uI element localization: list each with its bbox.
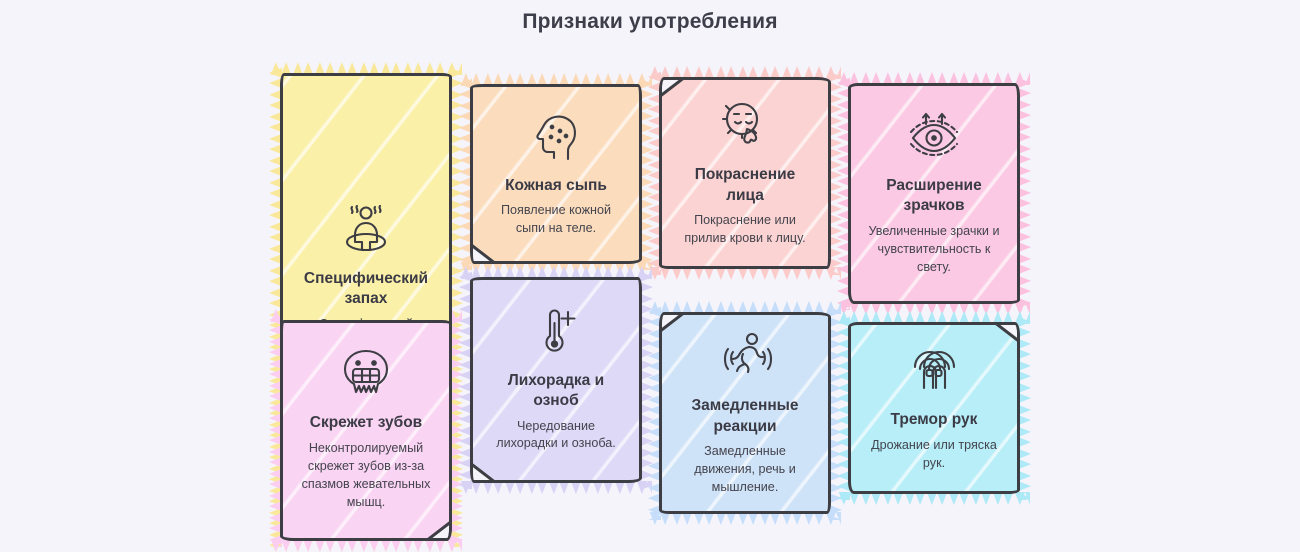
symptom-card-dilated-pupils[interactable]: Расширение зрачковУвеличенные зрачки и ч… xyxy=(848,83,1020,304)
page-fold-corner xyxy=(470,463,496,483)
card-description: Чередование лихорадки и озноба. xyxy=(487,418,625,454)
card-title: Кожная сыпь xyxy=(505,176,607,196)
card-description: Неконтролируемый скрежет зубов из-за спа… xyxy=(297,440,435,512)
trembling-hands-icon xyxy=(902,340,966,402)
symptom-card-skin-rash[interactable]: Кожная сыпьПоявление кожной сыпи на теле… xyxy=(470,84,642,264)
card-title: Лихорадка и озноб xyxy=(487,371,625,412)
blushing-face-icon xyxy=(713,95,777,157)
symptom-card-fever-chills[interactable]: Лихорадка и ознобЧередование лихорадки и… xyxy=(470,277,642,483)
card-title: Расширение зрачков xyxy=(865,176,1003,217)
running-person-icon xyxy=(713,326,777,388)
cards-board: Специфический запахСпецифический «химиче… xyxy=(0,0,1300,546)
card-description: Замедленные движения, речь и мышление. xyxy=(676,443,814,497)
page-fold-corner xyxy=(659,312,685,332)
body-odor-icon xyxy=(334,199,398,261)
dilated-eye-icon xyxy=(902,106,966,168)
head-rash-icon xyxy=(524,106,588,168)
symptom-card-teeth-grinding[interactable]: Скрежет зубовНеконтролируемый скрежет зу… xyxy=(280,320,452,541)
card-description: Появление кожной сыпи на теле. xyxy=(487,202,625,238)
grinding-teeth-icon xyxy=(334,343,398,405)
card-description: Дрожание или тряска рук. xyxy=(865,437,1003,473)
thermometer-icon xyxy=(524,301,588,363)
symptom-card-facial-flushing[interactable]: Покраснение лицаПокраснение или прилив к… xyxy=(659,77,831,269)
card-title: Покраснение лица xyxy=(676,165,814,206)
card-description: Увеличенные зрачки и чувствительность к … xyxy=(865,223,1003,277)
symptom-card-slowed-reactions[interactable]: Замедленные реакцииЗамедленные движения,… xyxy=(659,312,831,514)
page-fold-corner xyxy=(470,244,496,264)
card-description: Покраснение или прилив крови к лицу. xyxy=(676,212,814,248)
card-title: Тремор рук xyxy=(891,410,978,430)
card-title: Скрежет зубов xyxy=(310,413,422,433)
symptom-card-hand-tremor[interactable]: Тремор рукДрожание или тряска рук. xyxy=(848,322,1020,494)
card-title: Специфический запах xyxy=(297,269,435,310)
page-fold-corner xyxy=(994,322,1020,342)
page-fold-corner xyxy=(426,521,452,541)
page-fold-corner xyxy=(659,77,685,97)
card-title: Замедленные реакции xyxy=(676,396,814,437)
